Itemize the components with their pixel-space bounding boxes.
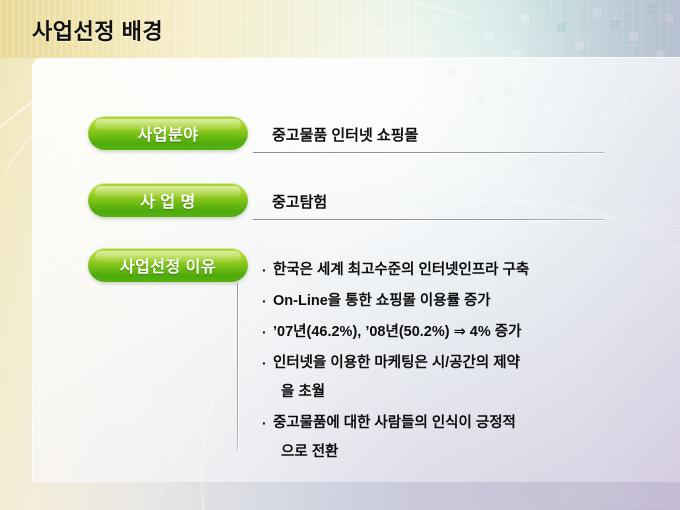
reason-bullet-list: · 한국은 세계 최고수준의 인터넷인프라 구축 · On-Line을 통한 쇼… bbox=[262, 256, 662, 469]
bullet-text-continuation: 으로 전환 bbox=[262, 438, 662, 467]
list-item: · 인터넷을 이용한 마케팅은 시/공간의 제약 을 초월 bbox=[262, 349, 662, 407]
bullet-dot-icon: · bbox=[262, 287, 273, 316]
vertical-divider bbox=[237, 283, 238, 450]
label-pill-selection-reason[interactable]: 사업선정 이유 bbox=[88, 248, 248, 282]
list-item: · On-Line을 통한 쇼핑몰 이용률 증가 bbox=[262, 287, 662, 316]
bullet-dot-icon: · bbox=[262, 409, 273, 438]
row-underline bbox=[253, 219, 604, 220]
pill-label: 사업선정 이유 bbox=[120, 253, 216, 277]
row-underline bbox=[253, 152, 604, 153]
list-item: · 중고물품에 대한 사람들의 인식이 긍정적 으로 전환 bbox=[262, 409, 662, 467]
bullet-text: On-Line을 통한 쇼핑몰 이용률 증가 bbox=[273, 287, 491, 316]
list-item: · 한국은 세계 최고수준의 인터넷인프라 구축 bbox=[262, 256, 662, 285]
slide-canvas: 사업선정 배경 사업분야 중고물품 인터넷 쇼핑몰 사 업 명 중고탐험 사업선… bbox=[0, 0, 680, 510]
bullet-text: 인터넷을 이용한 마케팅은 시/공간의 제약 bbox=[273, 349, 520, 378]
bullet-text-continuation: 을 초월 bbox=[262, 378, 662, 407]
bullet-text: 중고물품에 대한 사람들의 인식이 긍정적 bbox=[273, 409, 516, 438]
pill-label: 사 업 명 bbox=[140, 188, 196, 212]
bullet-text: ’07년(46.2%), ’08년(50.2%) ⇒ 4% 증가 bbox=[273, 318, 521, 347]
label-pill-business-name[interactable]: 사 업 명 bbox=[88, 183, 248, 217]
bullet-dot-icon: · bbox=[262, 349, 273, 378]
label-pill-business-field[interactable]: 사업분야 bbox=[88, 116, 248, 150]
row-value-business-field: 중고물품 인터넷 쇼핑몰 bbox=[272, 124, 418, 145]
bullet-dot-icon: · bbox=[262, 318, 273, 347]
bullet-dot-icon: · bbox=[262, 256, 273, 285]
row-value-business-name: 중고탐험 bbox=[272, 191, 327, 212]
bullet-text: 한국은 세계 최고수준의 인터넷인프라 구축 bbox=[273, 256, 529, 285]
page-title: 사업선정 배경 bbox=[32, 14, 163, 46]
list-item: · ’07년(46.2%), ’08년(50.2%) ⇒ 4% 증가 bbox=[262, 318, 662, 347]
pill-label: 사업분야 bbox=[138, 121, 199, 145]
